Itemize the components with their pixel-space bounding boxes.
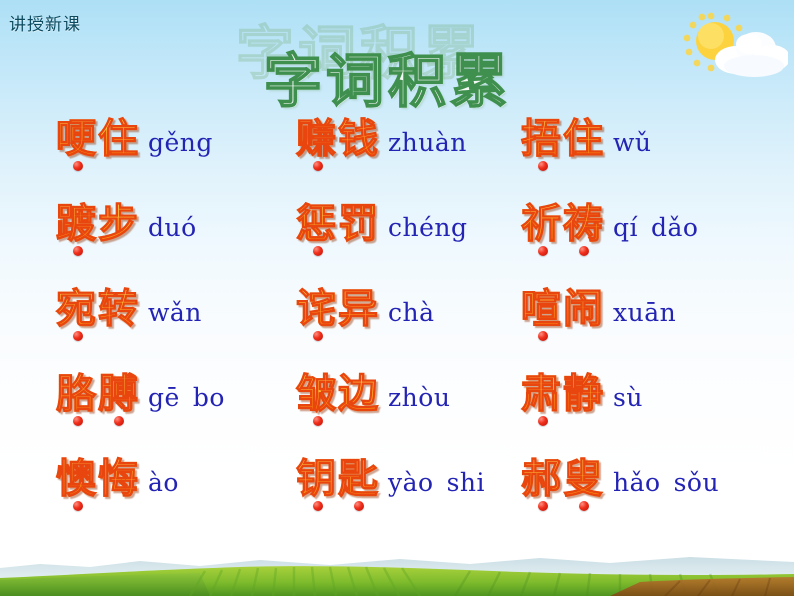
vocabulary-row: 踱步duó惩罚chéng祈祷qídǎo	[0, 203, 794, 288]
emphasis-dot-slot	[563, 161, 604, 171]
chinese-character: 惩	[295, 203, 337, 245]
chinese-character: 懊	[55, 458, 97, 500]
emphasis-dot-slot	[57, 331, 98, 341]
emphasis-dots	[55, 416, 139, 426]
pinyin-text: zhòu	[388, 385, 450, 410]
pinyin-text: sù	[613, 385, 643, 410]
chinese-character: 转	[97, 288, 139, 330]
emphasis-dot-empty	[354, 246, 364, 256]
emphasis-dot-slot	[98, 416, 139, 426]
vocabulary-word: 哽住	[55, 118, 139, 171]
emphasis-dots	[520, 161, 604, 171]
emphasis-dot-slot	[57, 246, 98, 256]
emphasis-dots	[55, 331, 139, 341]
weather-decoration	[664, 8, 788, 88]
emphasis-dots	[295, 331, 379, 341]
chinese-character: 赚	[295, 118, 337, 160]
vocabulary-item[interactable]: 皱边zhòu	[295, 373, 450, 426]
vocabulary-characters: 诧异	[295, 288, 379, 330]
emphasis-dot-slot	[522, 246, 563, 256]
emphasis-dot-slot	[297, 161, 338, 171]
vocabulary-characters: 喧闹	[520, 288, 604, 330]
chinese-character: 住	[562, 118, 604, 160]
emphasis-dots	[520, 501, 604, 511]
vocabulary-characters: 郝叟	[520, 458, 604, 500]
emphasis-dot-slot	[563, 501, 604, 511]
emphasis-dot-empty	[114, 501, 124, 511]
emphasis-dot-empty	[354, 161, 364, 171]
emphasis-dot-empty	[354, 331, 364, 341]
emphasis-dot-slot	[563, 246, 604, 256]
emphasis-dot-slot	[98, 246, 139, 256]
pinyin-text: zhuàn	[388, 130, 467, 155]
vocabulary-word: 郝叟	[520, 458, 604, 511]
emphasis-dot-slot	[522, 501, 563, 511]
chinese-character: 胳	[55, 373, 97, 415]
chinese-character: 钱	[337, 118, 379, 160]
vocabulary-item[interactable]: 祈祷qídǎo	[520, 203, 698, 256]
vocabulary-row: 胳膊gēbo皱边zhòu肃静sù	[0, 373, 794, 458]
emphasis-dot-slot	[522, 161, 563, 171]
vocabulary-item[interactable]: 哽住gěng	[55, 118, 213, 171]
chinese-character: 郝	[520, 458, 562, 500]
vocabulary-characters: 钥匙	[295, 458, 379, 500]
emphasis-dot-slot	[563, 416, 604, 426]
vocabulary-item[interactable]: 喧闹xuān	[520, 288, 676, 341]
pinyin-text: wǔ	[613, 130, 652, 155]
vocabulary-characters: 惩罚	[295, 203, 379, 245]
pinyin-syllable: qí	[613, 213, 638, 242]
chinese-character: 祈	[520, 203, 562, 245]
emphasis-dot	[579, 246, 589, 256]
vocabulary-item[interactable]: 郝叟hǎosǒu	[520, 458, 719, 511]
emphasis-dot	[73, 331, 83, 341]
emphasis-dot-slot	[338, 161, 379, 171]
emphasis-dots	[295, 416, 379, 426]
chinese-character: 钥	[295, 458, 337, 500]
pinyin-syllable: gěng	[148, 128, 213, 157]
emphasis-dots	[520, 331, 604, 341]
emphasis-dot	[73, 161, 83, 171]
emphasis-dot-slot	[522, 331, 563, 341]
pinyin-text: chà	[388, 300, 435, 325]
emphasis-dot	[114, 416, 124, 426]
chinese-character: 踱	[55, 203, 97, 245]
pinyin-syllable: zhuàn	[388, 128, 467, 157]
emphasis-dot-empty	[114, 161, 124, 171]
pinyin-syllable: xuān	[613, 298, 676, 327]
emphasis-dots	[295, 501, 379, 511]
emphasis-dot-empty	[579, 161, 589, 171]
chinese-character: 匙	[337, 458, 379, 500]
vocabulary-item[interactable]: 赚钱zhuàn	[295, 118, 467, 171]
emphasis-dot	[313, 416, 323, 426]
vocabulary-characters: 踱步	[55, 203, 139, 245]
emphasis-dot-slot	[98, 331, 139, 341]
emphasis-dot	[313, 246, 323, 256]
pinyin-syllable: dǎo	[651, 213, 698, 242]
pinyin-syllable: duó	[148, 213, 197, 242]
chinese-character: 叟	[562, 458, 604, 500]
emphasis-dot	[538, 246, 548, 256]
emphasis-dot	[538, 416, 548, 426]
emphasis-dot	[354, 501, 364, 511]
pinyin-syllable: chéng	[388, 213, 468, 242]
emphasis-dot-slot	[338, 416, 379, 426]
pinyin-text: gěng	[148, 130, 213, 155]
vocabulary-characters: 祈祷	[520, 203, 604, 245]
emphasis-dot	[73, 246, 83, 256]
chinese-character: 罚	[337, 203, 379, 245]
emphasis-dots	[55, 501, 139, 511]
emphasis-dot-slot	[563, 331, 604, 341]
emphasis-dots	[55, 246, 139, 256]
pinyin-text: qídǎo	[613, 215, 698, 240]
emphasis-dots	[295, 246, 379, 256]
chinese-character: 捂	[520, 118, 562, 160]
chinese-character: 皱	[295, 373, 337, 415]
emphasis-dot-slot	[98, 161, 139, 171]
emphasis-dot-empty	[114, 331, 124, 341]
pinyin-syllable: shi	[447, 468, 485, 497]
vocabulary-row: 宛转wǎn诧异chà喧闹xuān	[0, 288, 794, 373]
vocabulary-item[interactable]: 惩罚chéng	[295, 203, 468, 256]
emphasis-dot-slot	[338, 331, 379, 341]
emphasis-dot	[73, 501, 83, 511]
pinyin-syllable: zhòu	[388, 383, 450, 412]
emphasis-dot-slot	[338, 501, 379, 511]
emphasis-dot-slot	[57, 501, 98, 511]
pinyin-text: chéng	[388, 215, 468, 240]
page-title: 字词积累 字词积累	[228, 22, 558, 114]
vocabulary-word: 钥匙	[295, 458, 379, 511]
vocabulary-word: 肃静	[520, 373, 604, 426]
vocabulary-word: 皱边	[295, 373, 379, 426]
chinese-character: 诧	[295, 288, 337, 330]
pinyin-syllable: sù	[613, 383, 643, 412]
vocabulary-word: 喧闹	[520, 288, 604, 341]
vocabulary-row: 懊悔ào钥匙yàoshi郝叟hǎosǒu	[0, 458, 794, 543]
pinyin-text: yàoshi	[388, 470, 485, 495]
emphasis-dot-slot	[338, 246, 379, 256]
vocabulary-word: 踱步	[55, 203, 139, 256]
vocabulary-characters: 皱边	[295, 373, 379, 415]
emphasis-dots	[520, 416, 604, 426]
vocabulary-word: 诧异	[295, 288, 379, 341]
vocabulary-item[interactable]: 肃静sù	[520, 373, 643, 426]
vocabulary-word: 胳膊	[55, 373, 139, 426]
emphasis-dot	[313, 501, 323, 511]
emphasis-dots	[55, 161, 139, 171]
vocabulary-word: 宛转	[55, 288, 139, 341]
pinyin-text: hǎosǒu	[613, 470, 719, 495]
vocabulary-characters: 肃静	[520, 373, 604, 415]
pinyin-text: duó	[148, 215, 197, 240]
chinese-character: 边	[337, 373, 379, 415]
emphasis-dot	[313, 161, 323, 171]
emphasis-dots	[520, 246, 604, 256]
pinyin-syllable: wǔ	[613, 128, 652, 157]
chinese-character: 住	[97, 118, 139, 160]
pinyin-text: ào	[148, 470, 179, 495]
emphasis-dot	[313, 331, 323, 341]
pinyin-syllable: yào	[388, 468, 434, 497]
chinese-character: 静	[562, 373, 604, 415]
vocabulary-characters: 捂住	[520, 118, 604, 160]
chinese-character: 闹	[562, 288, 604, 330]
emphasis-dot-empty	[354, 416, 364, 426]
pinyin-text: xuān	[613, 300, 676, 325]
pinyin-syllable: ào	[148, 468, 179, 497]
emphasis-dot	[538, 501, 548, 511]
chinese-character: 喧	[520, 288, 562, 330]
vocabulary-characters: 胳膊	[55, 373, 139, 415]
pinyin-syllable: bo	[193, 383, 225, 412]
chinese-character: 宛	[55, 288, 97, 330]
vocabulary-characters: 赚钱	[295, 118, 379, 160]
emphasis-dot-slot	[297, 416, 338, 426]
emphasis-dot-slot	[98, 501, 139, 511]
vocabulary-item[interactable]: 胳膊gēbo	[55, 373, 225, 426]
landscape-decoration	[0, 534, 794, 596]
pinyin-text: wǎn	[148, 300, 202, 325]
pinyin-syllable: hǎo	[613, 468, 661, 497]
pinyin-text: gēbo	[148, 385, 225, 410]
emphasis-dot-slot	[57, 416, 98, 426]
slide-canvas: 讲授新课 字词积累 字词积累 哽住gěng赚钱zhuàn捂住wǔ踱步duó惩罚c…	[0, 0, 794, 596]
chinese-character: 哽	[55, 118, 97, 160]
emphasis-dot-slot	[297, 331, 338, 341]
vocabulary-characters: 哽住	[55, 118, 139, 160]
emphasis-dot-empty	[579, 331, 589, 341]
chinese-character: 步	[97, 203, 139, 245]
vocabulary-word: 赚钱	[295, 118, 379, 171]
lesson-tag: 讲授新课	[9, 10, 81, 35]
pinyin-syllable: gē	[148, 383, 180, 412]
vocabulary-item[interactable]: 诧异chà	[295, 288, 435, 341]
pinyin-syllable: sǒu	[674, 468, 719, 497]
chinese-character: 祷	[562, 203, 604, 245]
vocabulary-item[interactable]: 钥匙yàoshi	[295, 458, 485, 511]
chinese-character: 膊	[97, 373, 139, 415]
chinese-character: 肃	[520, 373, 562, 415]
vocabulary-characters: 宛转	[55, 288, 139, 330]
vocabulary-word: 捂住	[520, 118, 604, 171]
emphasis-dot-slot	[522, 416, 563, 426]
cloud-icon	[715, 32, 788, 77]
vocabulary-grid: 哽住gěng赚钱zhuàn捂住wǔ踱步duó惩罚chéng祈祷qídǎo宛转wǎ…	[0, 118, 794, 543]
emphasis-dot-slot	[57, 161, 98, 171]
emphasis-dot	[579, 501, 589, 511]
chinese-character: 悔	[97, 458, 139, 500]
pinyin-syllable: chà	[388, 298, 435, 327]
chinese-character: 异	[337, 288, 379, 330]
vocabulary-word: 惩罚	[295, 203, 379, 256]
vocabulary-characters: 懊悔	[55, 458, 139, 500]
emphasis-dot	[73, 416, 83, 426]
vocabulary-item[interactable]: 宛转wǎn	[55, 288, 202, 341]
vocabulary-item[interactable]: 捂住wǔ	[520, 118, 652, 171]
emphasis-dot-slot	[297, 246, 338, 256]
sun-icon	[684, 13, 747, 72]
emphasis-dot	[538, 331, 548, 341]
emphasis-dot-slot	[297, 501, 338, 511]
vocabulary-word: 懊悔	[55, 458, 139, 511]
emphasis-dot	[538, 161, 548, 171]
vocabulary-item[interactable]: 踱步duó	[55, 203, 197, 256]
vocabulary-row: 哽住gěng赚钱zhuàn捂住wǔ	[0, 118, 794, 203]
vocabulary-item[interactable]: 懊悔ào	[55, 458, 179, 511]
emphasis-dot-empty	[579, 416, 589, 426]
emphasis-dot-empty	[114, 246, 124, 256]
vocabulary-word: 祈祷	[520, 203, 604, 256]
page-title-text: 字词积累	[264, 52, 512, 110]
emphasis-dots	[295, 161, 379, 171]
pinyin-syllable: wǎn	[148, 298, 202, 327]
